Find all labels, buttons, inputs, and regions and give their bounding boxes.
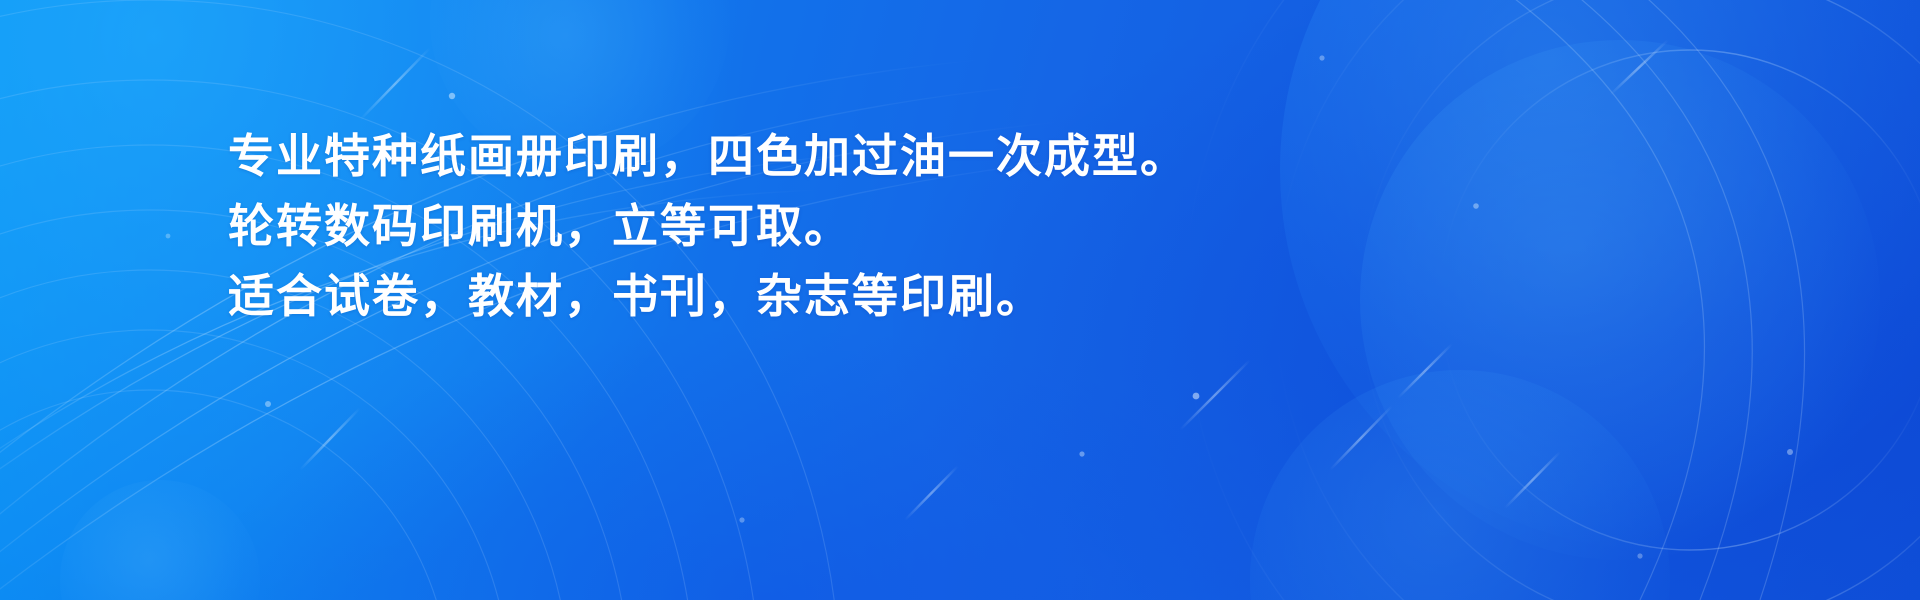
headline-line-3: 适合试卷，教材，书刊，杂志等印刷。 bbox=[228, 266, 1528, 326]
promo-banner: 专业特种纸画册印刷，四色加过油一次成型。 轮转数码印刷机，立等可取。 适合试卷，… bbox=[0, 0, 1920, 600]
headline-line-1: 专业特种纸画册印刷，四色加过油一次成型。 bbox=[228, 126, 1528, 186]
headline-block: 专业特种纸画册印刷，四色加过油一次成型。 轮转数码印刷机，立等可取。 适合试卷，… bbox=[228, 126, 1528, 326]
headline-line-2: 轮转数码印刷机，立等可取。 bbox=[228, 196, 1528, 256]
